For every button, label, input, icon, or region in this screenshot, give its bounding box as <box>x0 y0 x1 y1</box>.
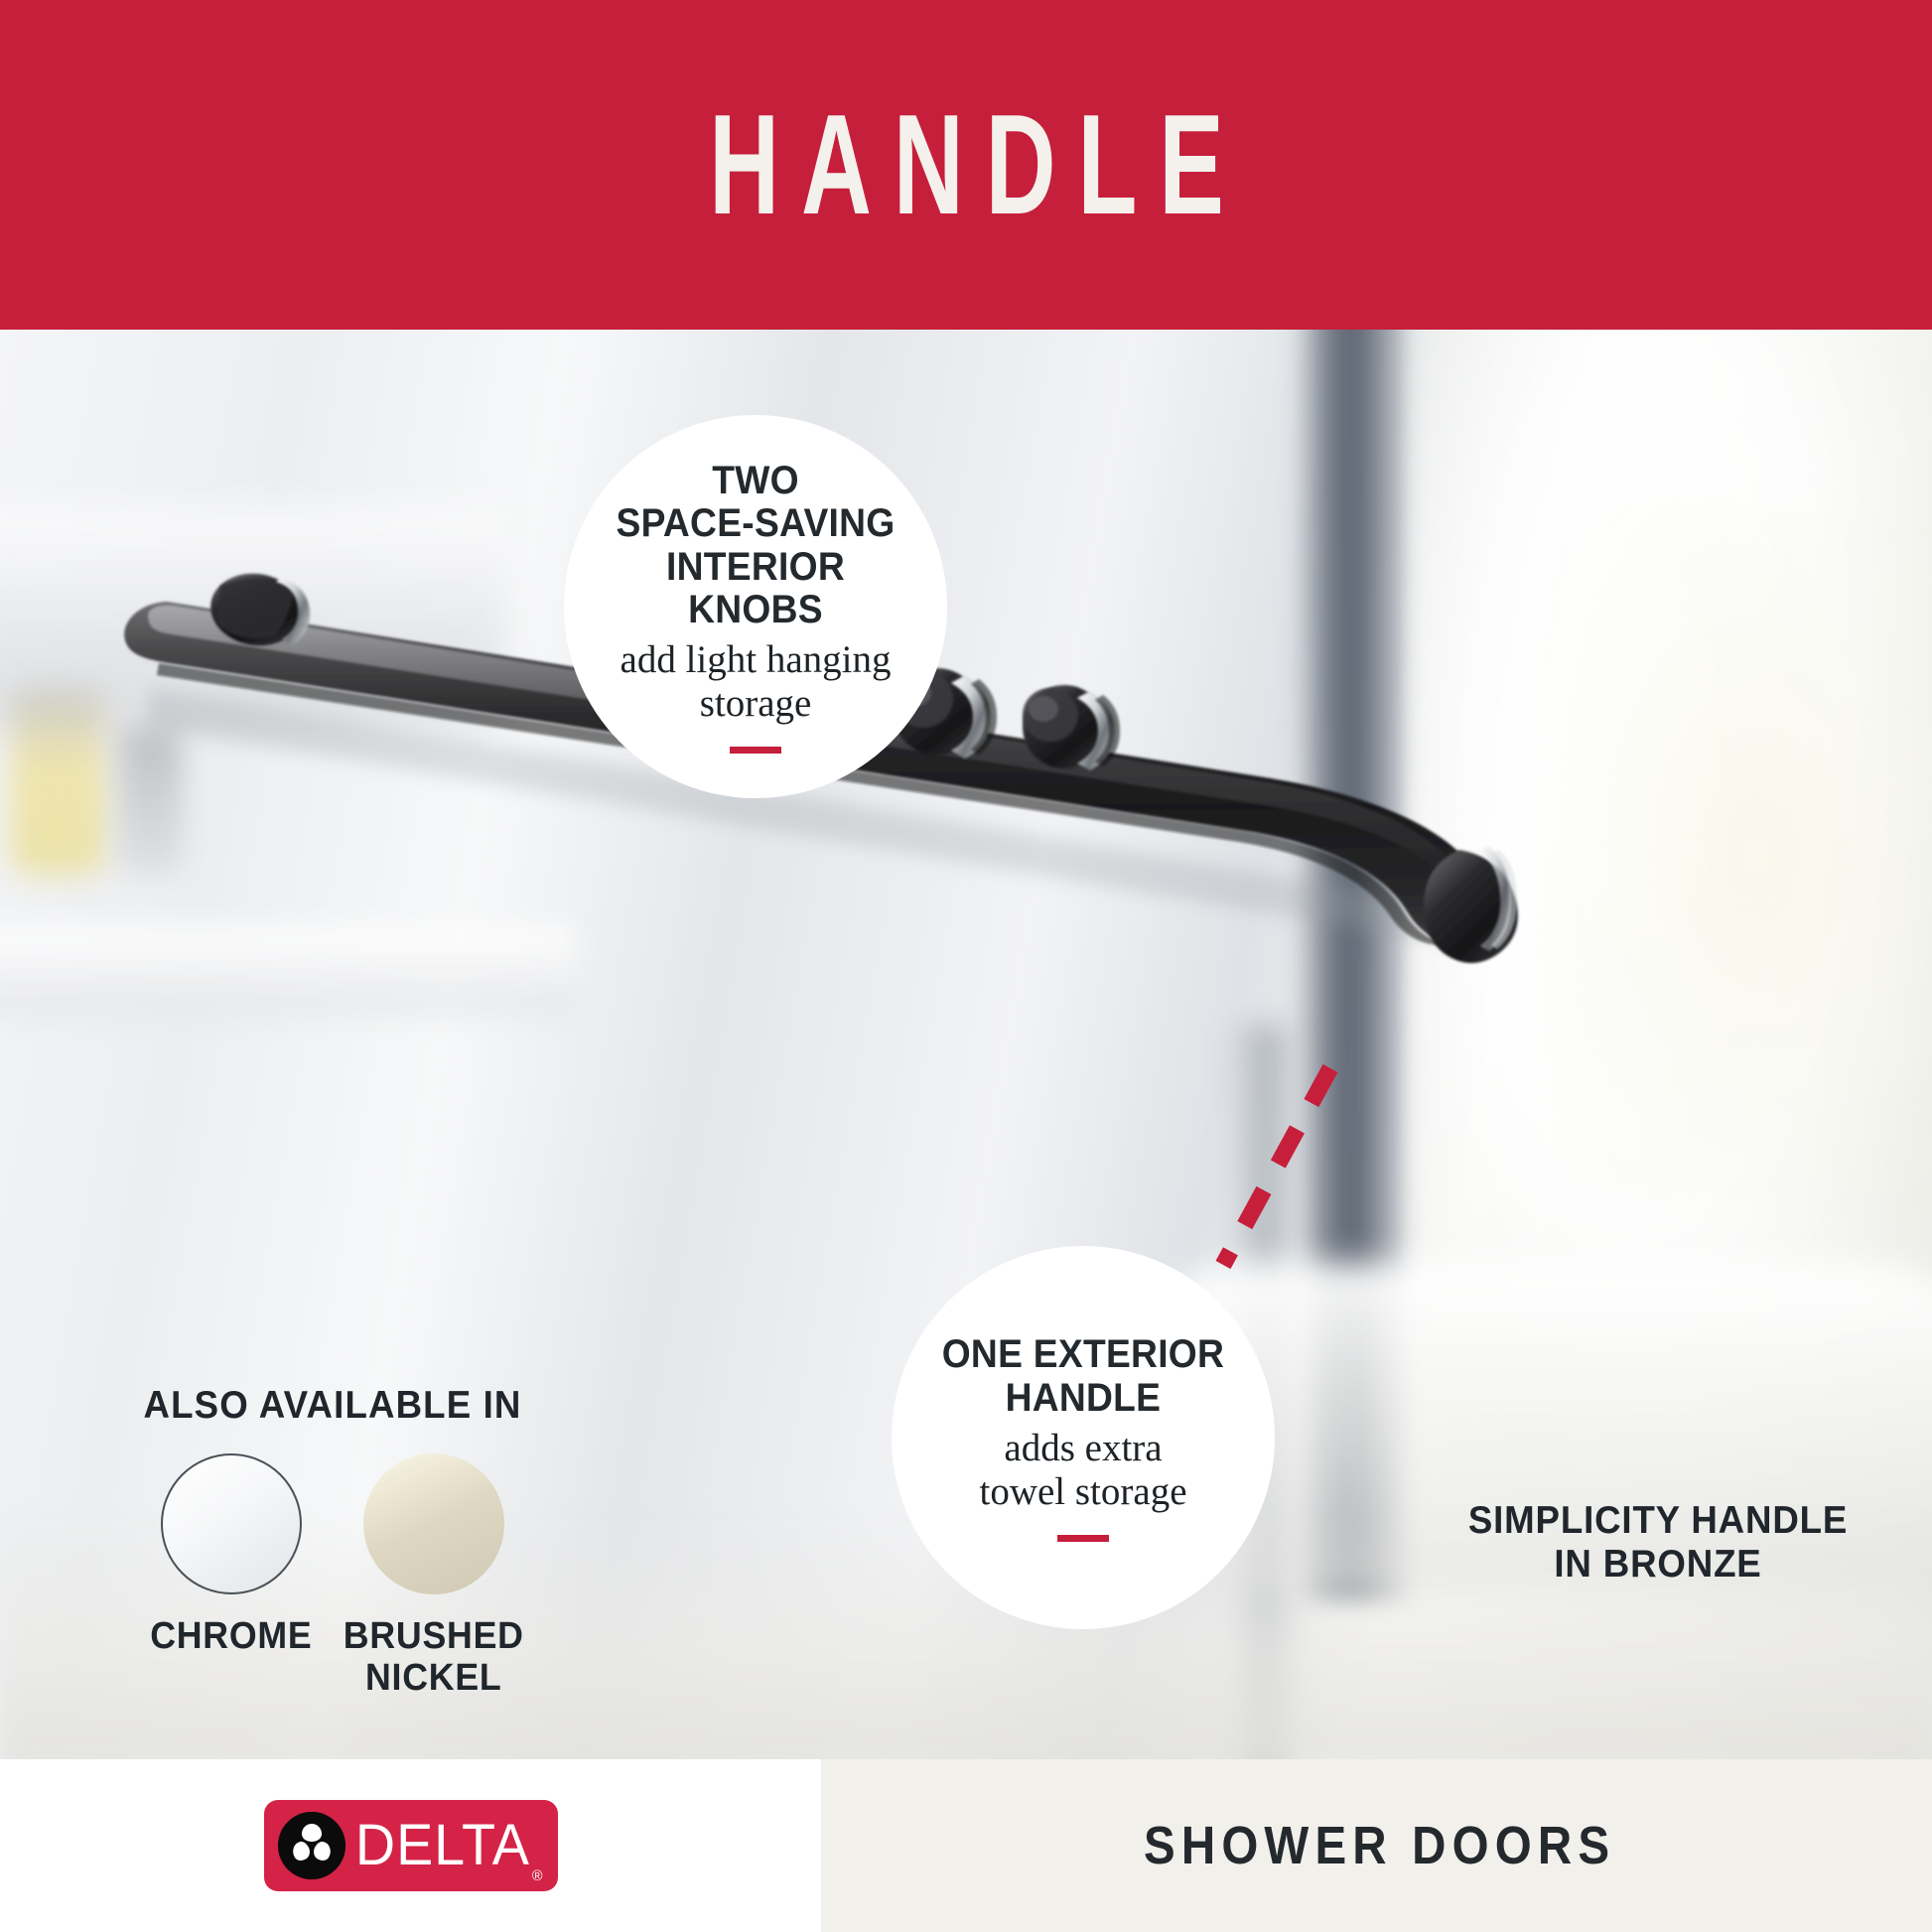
footer-brand-panel: DELTA® <box>0 1759 821 1932</box>
finish-swatch-row: CHROME BRUSHED NICKEL <box>119 1453 546 1700</box>
callout-headline-line: ONE EXTERIOR <box>942 1333 1224 1376</box>
product-caption: SIMPLICITY HANDLE IN BRONZE <box>1434 1499 1881 1587</box>
callout-headline-line: HANDLE <box>942 1377 1224 1420</box>
callout-accent-rule <box>1057 1535 1109 1542</box>
leader-line-exterior-handle <box>1223 1068 1330 1265</box>
brushed-nickel-swatch[interactable] <box>363 1453 504 1594</box>
callout-subtitle-line: add light hanging <box>621 638 892 682</box>
callout-interior-knobs: TWO SPACE-SAVING INTERIOR KNOBS add ligh… <box>564 415 947 798</box>
available-finishes: ALSO AVAILABLE IN CHROME BRUSHED NICKEL <box>119 1384 546 1700</box>
delta-triangle-icon <box>278 1812 345 1879</box>
finish-option-brushed-nickel[interactable]: BRUSHED NICKEL <box>354 1453 513 1700</box>
header-banner: HANDLE <box>0 0 1932 330</box>
finish-label-line: BRUSHED <box>344 1616 524 1658</box>
callout-exterior-handle: ONE EXTERIOR HANDLE adds extra towel sto… <box>892 1246 1275 1629</box>
callout-headline-line: INTERIOR KNOBS <box>602 546 910 631</box>
finish-label: CHROME <box>150 1616 312 1658</box>
callout-headline: TWO SPACE-SAVING INTERIOR KNOBS <box>602 460 910 631</box>
delta-logo[interactable]: DELTA® <box>264 1800 558 1891</box>
footer-tagline-panel: SHOWER DOORS <box>821 1759 1932 1932</box>
callout-headline-line: TWO <box>602 460 910 502</box>
callout-subtitle-line: towel storage <box>979 1470 1186 1514</box>
finish-label: BRUSHED NICKEL <box>344 1616 524 1700</box>
callout-headline: ONE EXTERIOR HANDLE <box>942 1333 1224 1419</box>
callout-subtitle-line: storage <box>621 682 892 726</box>
callout-subtitle-line: adds extra <box>979 1427 1186 1470</box>
callout-subtitle: add light hanging storage <box>621 638 892 727</box>
page-title: HANDLE <box>687 93 1245 236</box>
finish-option-chrome[interactable]: CHROME <box>152 1453 311 1700</box>
callout-headline-line: SPACE-SAVING <box>602 502 910 545</box>
product-feature-poster: HANDLE <box>0 0 1932 1932</box>
product-caption-line: IN BRONZE <box>1434 1543 1881 1587</box>
product-caption-line: SIMPLICITY HANDLE <box>1434 1499 1881 1543</box>
footer-tagline: SHOWER DOORS <box>1138 1815 1615 1876</box>
callout-subtitle: adds extra towel storage <box>979 1427 1186 1515</box>
callout-accent-rule <box>730 747 781 754</box>
registered-trademark-icon: ® <box>531 1867 543 1884</box>
finish-label-line: NICKEL <box>344 1658 524 1700</box>
finish-label-line: CHROME <box>150 1616 312 1658</box>
delta-mark-svg <box>278 1812 345 1879</box>
delta-wordmark: DELTA® <box>354 1817 541 1874</box>
footer: DELTA® SHOWER DOORS <box>0 1759 1932 1932</box>
finishes-title: ALSO AVAILABLE IN <box>132 1384 533 1428</box>
delta-wordmark-text: DELTA <box>354 1813 529 1877</box>
product-photo-stage: TWO SPACE-SAVING INTERIOR KNOBS add ligh… <box>0 330 1932 1759</box>
chrome-swatch[interactable] <box>161 1453 302 1594</box>
